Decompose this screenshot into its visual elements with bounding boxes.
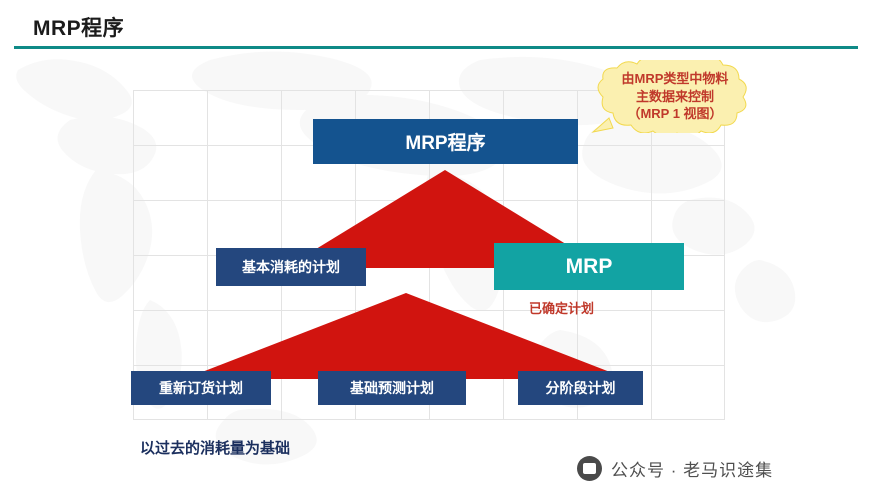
node-basic-consumption-plan-label: 基本消耗的计划 [242, 257, 340, 277]
node-basic-consumption-plan[interactable]: 基本消耗的计划 [216, 248, 366, 286]
confirmed-plan-label: 已确定计划 [529, 298, 594, 317]
slide-canvas: MRP程序 MRP程序 基本消耗的计划 MRP 重新订货计划 基础预测计划 [0, 0, 872, 491]
node-mrp-program-label: MRP程序 [405, 128, 485, 155]
node-reorder-plan-label: 重新订货计划 [159, 378, 243, 398]
node-mrp[interactable]: MRP [494, 243, 684, 290]
node-reorder-plan[interactable]: 重新订货计划 [131, 371, 271, 405]
footer-brand-label: 公众号 · 老马识途集 [611, 456, 773, 481]
callout-line-3: （MRP 1 视图） [595, 105, 755, 123]
page-title: MRP程序 [33, 12, 124, 42]
node-phased-plan-label: 分阶段计划 [546, 378, 616, 398]
title-divider [14, 46, 858, 49]
footer-brand: 公众号 · 老马识途集 [577, 456, 773, 481]
node-forecast-plan[interactable]: 基础预测计划 [318, 371, 466, 405]
callout-text: 由MRP类型中物料 主数据来控制 （MRP 1 视图） [595, 70, 755, 123]
node-mrp-label: MRP [566, 255, 613, 279]
node-forecast-plan-label: 基础预测计划 [350, 378, 434, 398]
callout-bubble: 由MRP类型中物料 主数据来控制 （MRP 1 视图） [587, 60, 764, 133]
callout-line-1: 由MRP类型中物料 [595, 70, 755, 88]
callout-line-2: 主数据来控制 [595, 88, 755, 106]
basis-note-label: 以过去的消耗量为基础 [140, 437, 290, 458]
node-mrp-program[interactable]: MRP程序 [313, 119, 578, 164]
node-phased-plan[interactable]: 分阶段计划 [518, 371, 643, 405]
brand-logo-icon [577, 456, 602, 481]
